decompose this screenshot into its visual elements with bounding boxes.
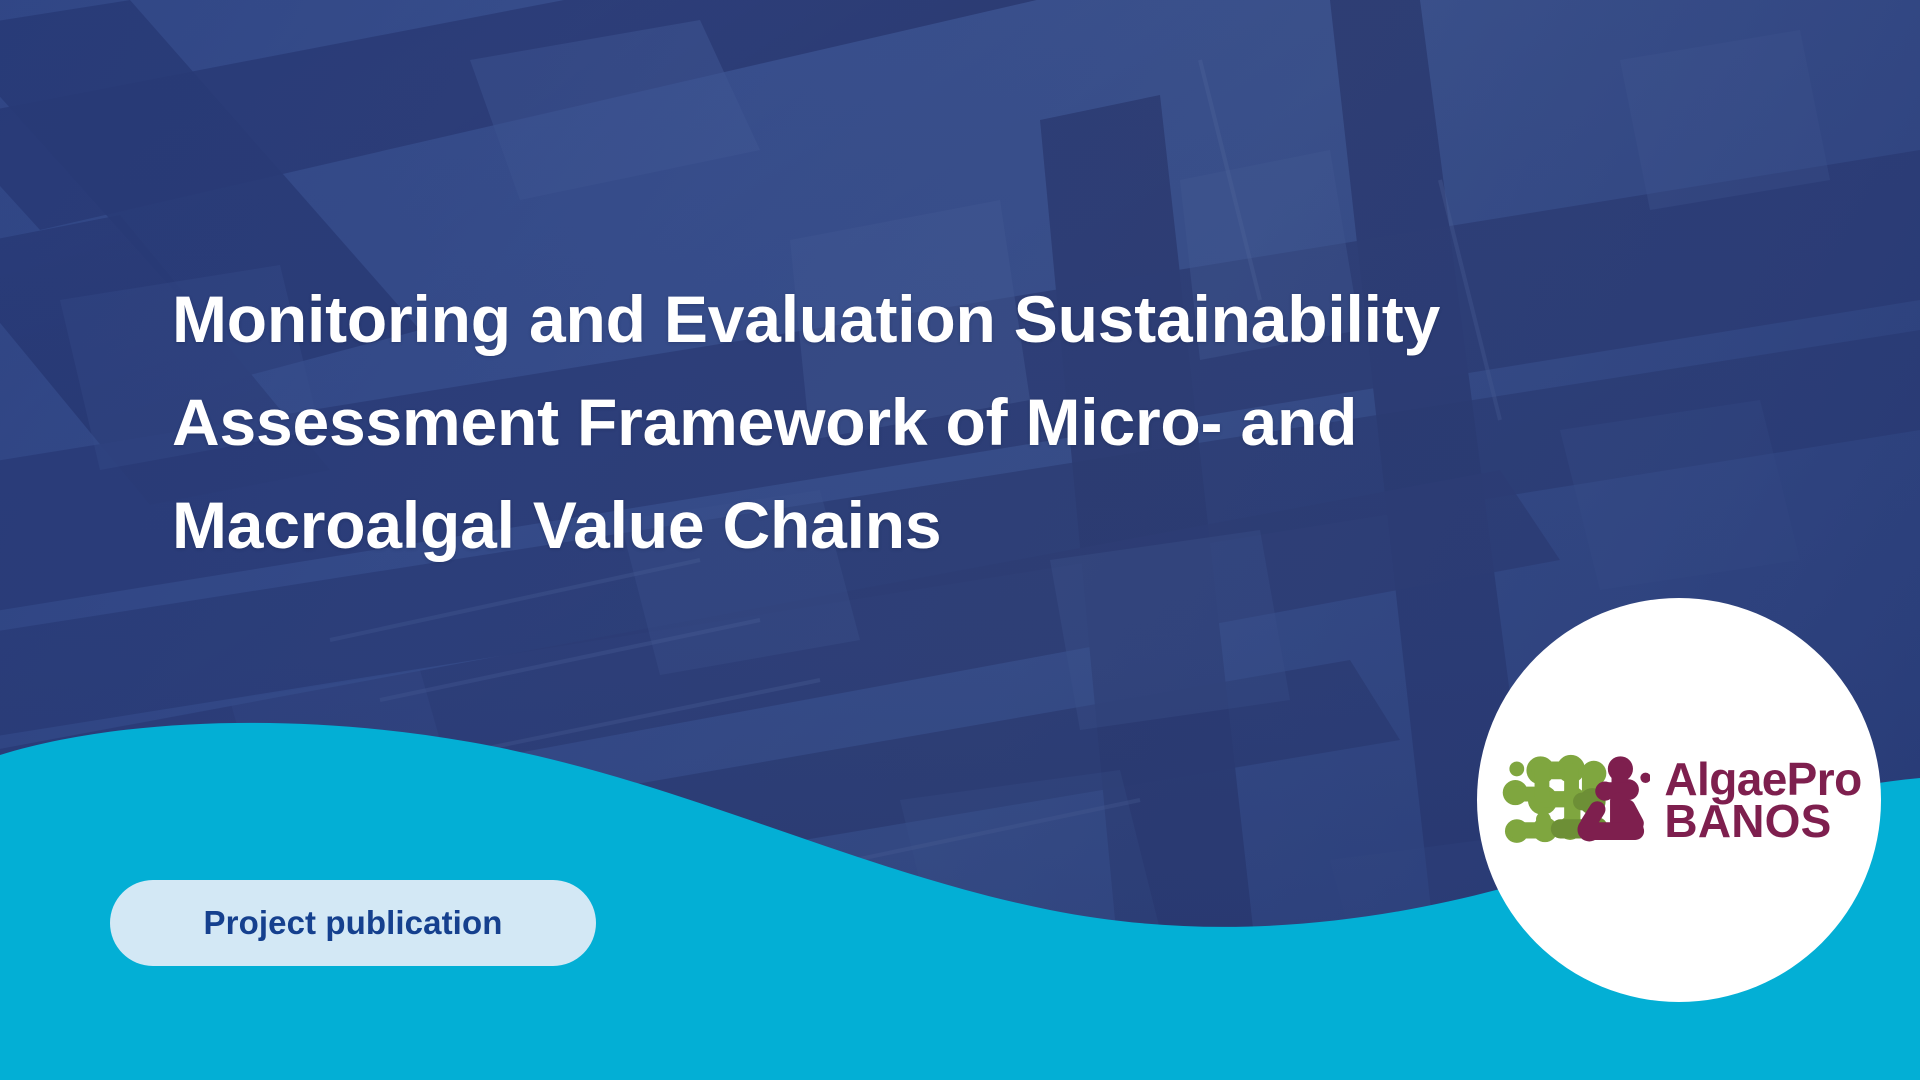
publication-banner: Monitoring and Evaluation Sustainability… [0,0,1920,1080]
logo-word-banos: BANOS [1664,800,1861,842]
logo-word-algaepro: AlgaePro [1664,758,1861,800]
page-title: Monitoring and Evaluation Sustainability… [172,268,1402,577]
logo-badge-circle: AlgaePro BANOS [1477,598,1881,1002]
logo-lockup: AlgaePro BANOS [1502,754,1861,846]
status-badge[interactable]: Project publication [110,880,596,966]
status-badge-label: Project publication [204,904,503,942]
title-line-3: Macroalgal Value Chains [172,474,1402,577]
logo-wordmark: AlgaePro BANOS [1664,758,1861,843]
algaepro-blob-mark [1502,754,1650,846]
title-line-2: Assessment Framework of Micro- and [172,371,1402,474]
title-line-1: Monitoring and Evaluation Sustainability [172,268,1402,371]
